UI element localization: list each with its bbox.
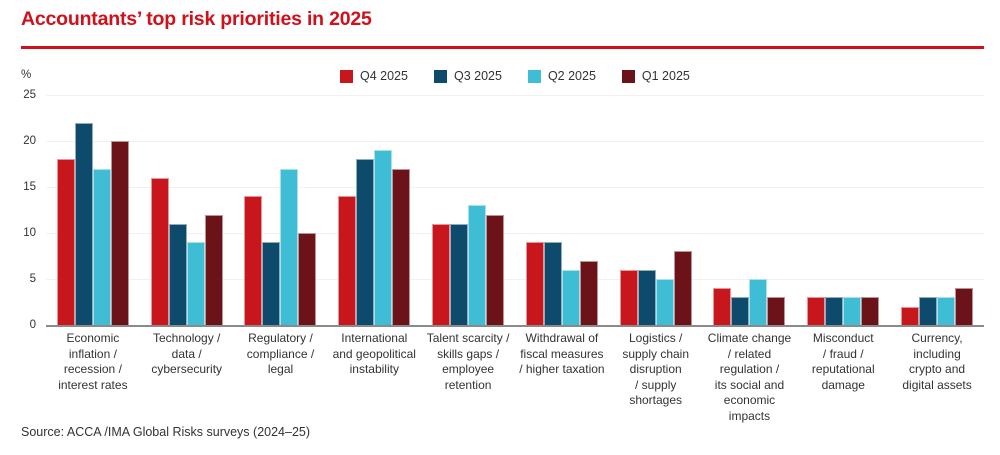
bar[interactable]: [280, 169, 298, 325]
bar[interactable]: [843, 297, 861, 325]
category-label-line: disruption: [613, 362, 699, 378]
bar[interactable]: [205, 215, 223, 325]
category-label-line: Economic: [50, 331, 136, 347]
bar-group: [796, 95, 890, 325]
legend-label: Q4 2025: [360, 69, 408, 83]
bar[interactable]: [111, 141, 129, 325]
bar-group: [46, 95, 140, 325]
category-label-line: shortages: [613, 393, 699, 409]
category-label-line: and geopolitical: [331, 347, 417, 363]
bar[interactable]: [562, 270, 580, 325]
bar[interactable]: [262, 242, 280, 325]
bar[interactable]: [919, 297, 937, 325]
bar[interactable]: [392, 169, 410, 325]
bar-group: [327, 95, 421, 325]
x-axis-category-labels: Economicinflation /recession /interest r…: [46, 331, 984, 424]
category-label-line: fiscal measures: [519, 347, 605, 363]
category-label-line: digital assets: [894, 378, 980, 394]
category-label-line: including: [894, 347, 980, 363]
bar[interactable]: [749, 279, 767, 325]
category-label-line: supply chain: [613, 347, 699, 363]
bar[interactable]: [169, 224, 187, 325]
y-axis-tick-label: 25: [2, 89, 36, 101]
bar[interactable]: [151, 178, 169, 325]
title-divider: [21, 46, 984, 49]
bar[interactable]: [620, 270, 638, 325]
category-label-line: impacts: [707, 409, 793, 425]
x-axis-category-label: Talent scarcity /skills gaps /employeere…: [421, 331, 515, 393]
bar[interactable]: [825, 297, 843, 325]
category-label-line: Currency,: [894, 331, 980, 347]
category-label-line: crypto and: [894, 362, 980, 378]
bar[interactable]: [187, 242, 205, 325]
bar-group: [140, 95, 234, 325]
x-axis-category-label: Technology /data /cybersecurity: [140, 331, 234, 378]
bar[interactable]: [338, 196, 356, 325]
category-label-line: International: [331, 331, 417, 347]
bar[interactable]: [807, 297, 825, 325]
category-label-line: Logistics /: [613, 331, 699, 347]
legend-swatch-icon: [340, 70, 353, 83]
y-axis-tick-label: 0: [2, 319, 36, 331]
bar[interactable]: [526, 242, 544, 325]
bar[interactable]: [901, 307, 919, 325]
y-axis-tick-label: 10: [2, 227, 36, 239]
bar[interactable]: [468, 205, 486, 325]
category-label-line: cybersecurity: [144, 362, 230, 378]
bar[interactable]: [298, 233, 316, 325]
bar[interactable]: [244, 196, 262, 325]
category-label-line: instability: [331, 362, 417, 378]
x-axis-category-label: Regulatory /compliance /legal: [234, 331, 328, 378]
category-label-line: Talent scarcity /: [425, 331, 511, 347]
x-axis-category-label: Internationaland geopoliticalinstability: [327, 331, 421, 378]
bar[interactable]: [713, 288, 731, 325]
y-axis-tick-label: 5: [2, 273, 36, 285]
legend-swatch-icon: [622, 70, 635, 83]
category-label-line: skills gaps /: [425, 347, 511, 363]
bar[interactable]: [656, 279, 674, 325]
source-note: Source: ACCA /IMA Global Risks surveys (…: [21, 425, 310, 439]
category-label-line: Regulatory /: [238, 331, 324, 347]
bar-group: [890, 95, 984, 325]
category-label-line: legal: [238, 362, 324, 378]
bar[interactable]: [674, 251, 692, 325]
legend-swatch-icon: [434, 70, 447, 83]
category-label-line: employee: [425, 362, 511, 378]
x-axis-category-label: Currency,includingcrypto anddigital asse…: [890, 331, 984, 393]
bar-group: [234, 95, 328, 325]
bar[interactable]: [374, 150, 392, 325]
category-label-line: inflation /: [50, 347, 136, 363]
legend-label: Q3 2025: [454, 69, 502, 83]
bar[interactable]: [861, 297, 879, 325]
category-label-line: / fraud /: [800, 347, 886, 363]
bar[interactable]: [731, 297, 749, 325]
bar-group: [515, 95, 609, 325]
bar[interactable]: [486, 215, 504, 325]
bar[interactable]: [57, 159, 75, 325]
chart-legend: Q4 2025Q3 2025Q2 2025Q1 2025: [340, 69, 690, 83]
x-axis-baseline: [46, 325, 984, 327]
legend-item[interactable]: Q2 2025: [528, 69, 596, 83]
category-label-line: / higher taxation: [519, 362, 605, 378]
category-label-line: interest rates: [50, 378, 136, 394]
bar[interactable]: [767, 297, 785, 325]
y-axis-tick-label: 15: [2, 181, 36, 193]
category-label-line: damage: [800, 378, 886, 394]
bar[interactable]: [432, 224, 450, 325]
x-axis-category-label: Misconduct/ fraud /reputationaldamage: [796, 331, 890, 393]
category-label-line: reputational: [800, 362, 886, 378]
bar[interactable]: [580, 261, 598, 325]
x-axis-category-label: Logistics /supply chaindisruption/ suppl…: [609, 331, 703, 409]
category-label-line: Climate change: [707, 331, 793, 347]
category-label-line: data /: [144, 347, 230, 363]
category-label-line: compliance /: [238, 347, 324, 363]
category-label-line: Withdrawal of: [519, 331, 605, 347]
category-label-line: recession /: [50, 362, 136, 378]
legend-item[interactable]: Q1 2025: [622, 69, 690, 83]
bar-groups: [46, 95, 984, 325]
category-label-line: economic: [707, 393, 793, 409]
x-axis-category-label: Climate change/ relatedregulation /its s…: [703, 331, 797, 424]
legend-item[interactable]: Q4 2025: [340, 69, 408, 83]
category-label-line: / related: [707, 347, 793, 363]
x-axis-category-label: Withdrawal offiscal measures/ higher tax…: [515, 331, 609, 378]
legend-swatch-icon: [528, 70, 541, 83]
bar[interactable]: [75, 123, 93, 325]
bar[interactable]: [544, 242, 562, 325]
bar[interactable]: [93, 169, 111, 325]
category-label-line: regulation /: [707, 362, 793, 378]
bar[interactable]: [450, 224, 468, 325]
bar-group: [703, 95, 797, 325]
legend-label: Q1 2025: [642, 69, 690, 83]
y-axis-tick-label: 20: [2, 135, 36, 147]
category-label-line: / supply: [613, 378, 699, 394]
category-label-line: Technology /: [144, 331, 230, 347]
bar-group: [609, 95, 703, 325]
y-axis-unit-label: %: [21, 69, 31, 81]
legend-label: Q2 2025: [548, 69, 596, 83]
category-label-line: retention: [425, 378, 511, 394]
category-label-line: its social and: [707, 378, 793, 394]
bar[interactable]: [356, 159, 374, 325]
x-axis-category-label: Economicinflation /recession /interest r…: [46, 331, 140, 393]
page-title: Accountants’ top risk priorities in 2025: [21, 8, 372, 31]
bar[interactable]: [955, 288, 973, 325]
bar-group: [421, 95, 515, 325]
bar[interactable]: [937, 297, 955, 325]
category-label-line: Misconduct: [800, 331, 886, 347]
legend-item[interactable]: Q3 2025: [434, 69, 502, 83]
bar[interactable]: [638, 270, 656, 325]
